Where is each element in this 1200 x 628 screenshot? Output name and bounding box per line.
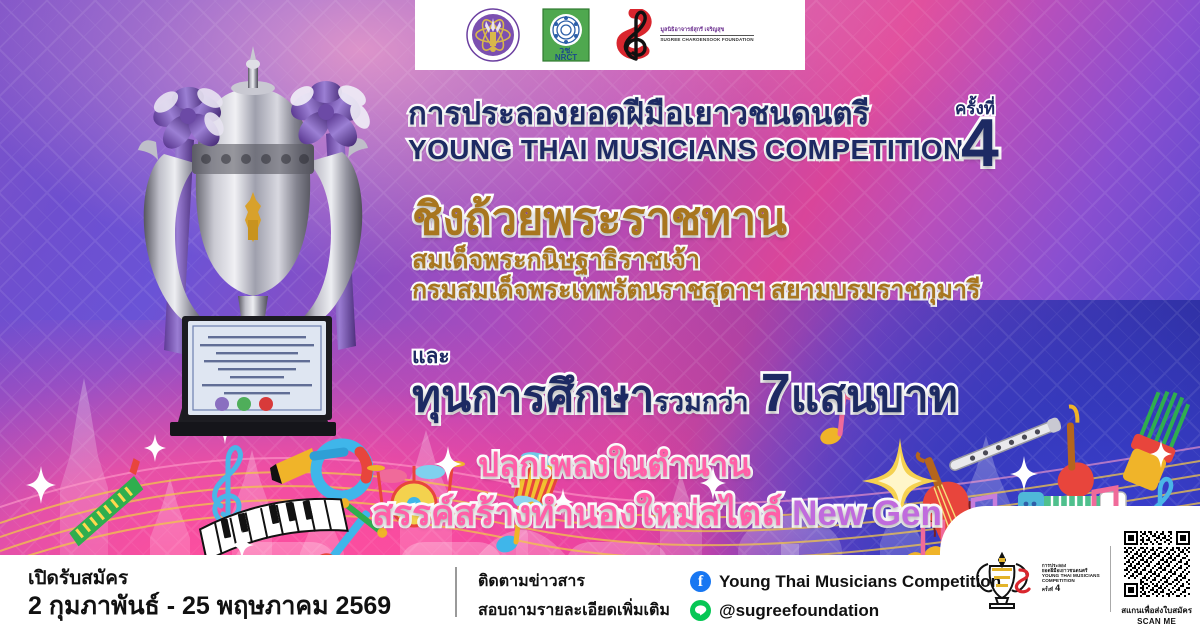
- edition-badge: ครั้งที่ 4: [955, 100, 1035, 174]
- registration-label: เปิดรับสมัคร: [28, 567, 391, 591]
- competition-title-en: YOUNG THAI MUSICIANS COMPETITION: [408, 135, 1028, 164]
- qr-caption-th: สแกนเพื่อส่งใบสมัคร: [1121, 604, 1192, 617]
- footer-right-block: การประลอง ยอดฝีมือเยาวชนดนตรี YOUNG THAI…: [966, 531, 1192, 626]
- competition-emblem: การประลอง ยอดฝีมือเยาวชนดนตรี YOUNG THAI…: [966, 548, 1100, 610]
- royal-cup-block: ชิงถ้วยพระราชทาน สมเด็จพระกนิษฐาธิราชเจ้…: [412, 196, 1052, 306]
- foundation-name-en: SUGREE CHAROENSOOK FOUNDATION: [660, 35, 753, 43]
- line-official-id: @sugreefoundation: [719, 601, 879, 621]
- registration-dates: 2 กุมภาพันธ์ - 25 พฤษภาคม 2569: [28, 591, 391, 621]
- mahidol-college-of-music-emblem: [466, 8, 520, 62]
- royal-title-line2: กรมสมเด็จพระเทพรัตนราชสุดาฯ สยามบรมราชกุ…: [412, 276, 1052, 306]
- scholarship-number: 7: [761, 363, 791, 423]
- scholarship-qualifier: รวมกว่า: [654, 387, 748, 417]
- emblem-number: 4: [1055, 584, 1060, 594]
- qr-code[interactable]: [1124, 531, 1190, 597]
- application-qr-block[interactable]: สแกนเพื่อส่งใบสมัคร SCAN ME: [1121, 531, 1192, 626]
- tagline-newgen: New Gen: [792, 494, 942, 533]
- follow-label: ติดตามข่าวสาร: [478, 569, 690, 594]
- facebook-link[interactable]: f Young Thai Musicians Competition: [690, 571, 1001, 592]
- competition-title-th: การประลองยอดฝีมือเยาวชนดนตรี: [408, 98, 1028, 131]
- footer-bar: เปิดรับสมัคร 2 กุมภาพันธ์ - 25 พฤษภาคม 2…: [0, 555, 1200, 628]
- poster-root: วช. NRCT มูลนิธิอาจารย์สุกรี เจริญสุข SU…: [0, 0, 1200, 628]
- tagline-line-2: สรรค์สร้างทำนองใหม่สไตล์ New Gen: [372, 496, 942, 531]
- contact-block: ติดตามข่าวสาร f Young Thai Musicians Com…: [478, 569, 1001, 623]
- footer-divider: [455, 567, 457, 617]
- scholarship-word: ทุนการศึกษา: [412, 372, 654, 421]
- sugree-charoensook-foundation-logo: มูลนิธิอาจารย์สุกรี เจริญสุข SUGREE CHAR…: [612, 9, 753, 61]
- emblem-line-5: ครั้งที่: [1042, 588, 1053, 593]
- qr-caption-en: SCAN ME: [1121, 617, 1192, 626]
- royal-trophy: [98, 24, 408, 464]
- royal-cup-heading: ชิงถ้วยพระราชทาน: [412, 196, 1052, 243]
- line-link[interactable]: @sugreefoundation: [690, 600, 1001, 621]
- scholarship-conjunction: และ: [412, 346, 1032, 367]
- footer-right-divider: [1110, 546, 1112, 612]
- trophy-plaque: [182, 316, 332, 420]
- line-icon: [690, 600, 711, 621]
- scholarship-block: และ ทุนการศึกษารวมกว่า 7แสนบาท: [412, 346, 1032, 422]
- scholarship-unit: แสนบาท: [791, 372, 958, 421]
- nrct-logo: วช. NRCT: [542, 8, 590, 62]
- foundation-name-th: มูลนิธิอาจารย์สุกรี เจริญสุข: [660, 27, 753, 34]
- facebook-page-name: Young Thai Musicians Competition: [719, 572, 1001, 592]
- scholarship-amount-line: ทุนการศึกษารวมกว่า 7แสนบาท: [412, 365, 1032, 422]
- nrct-abbr-en: NRCT: [555, 53, 577, 62]
- facebook-icon: f: [690, 571, 711, 592]
- inquiry-label: สอบถามรายละเอียดเพิ่มเติม: [478, 598, 690, 623]
- edition-number: 4: [961, 113, 1035, 174]
- organizer-logos: วช. NRCT มูลนิธิอาจารย์สุกรี เจริญสุข SU…: [415, 0, 805, 70]
- registration-period: เปิดรับสมัคร 2 กุมภาพันธ์ - 25 พฤษภาคม 2…: [28, 567, 391, 621]
- tagline-line-2-th: สรรค์สร้างทำนองใหม่สไตล์: [372, 494, 792, 533]
- headline-block: การประลองยอดฝีมือเยาวชนดนตรี YOUNG THAI …: [408, 98, 1028, 164]
- tagline-line-1: ปลุกเพลงในตำนาน: [478, 448, 751, 481]
- royal-title-line1: สมเด็จพระกนิษฐาธิราชเจ้า: [412, 246, 1052, 276]
